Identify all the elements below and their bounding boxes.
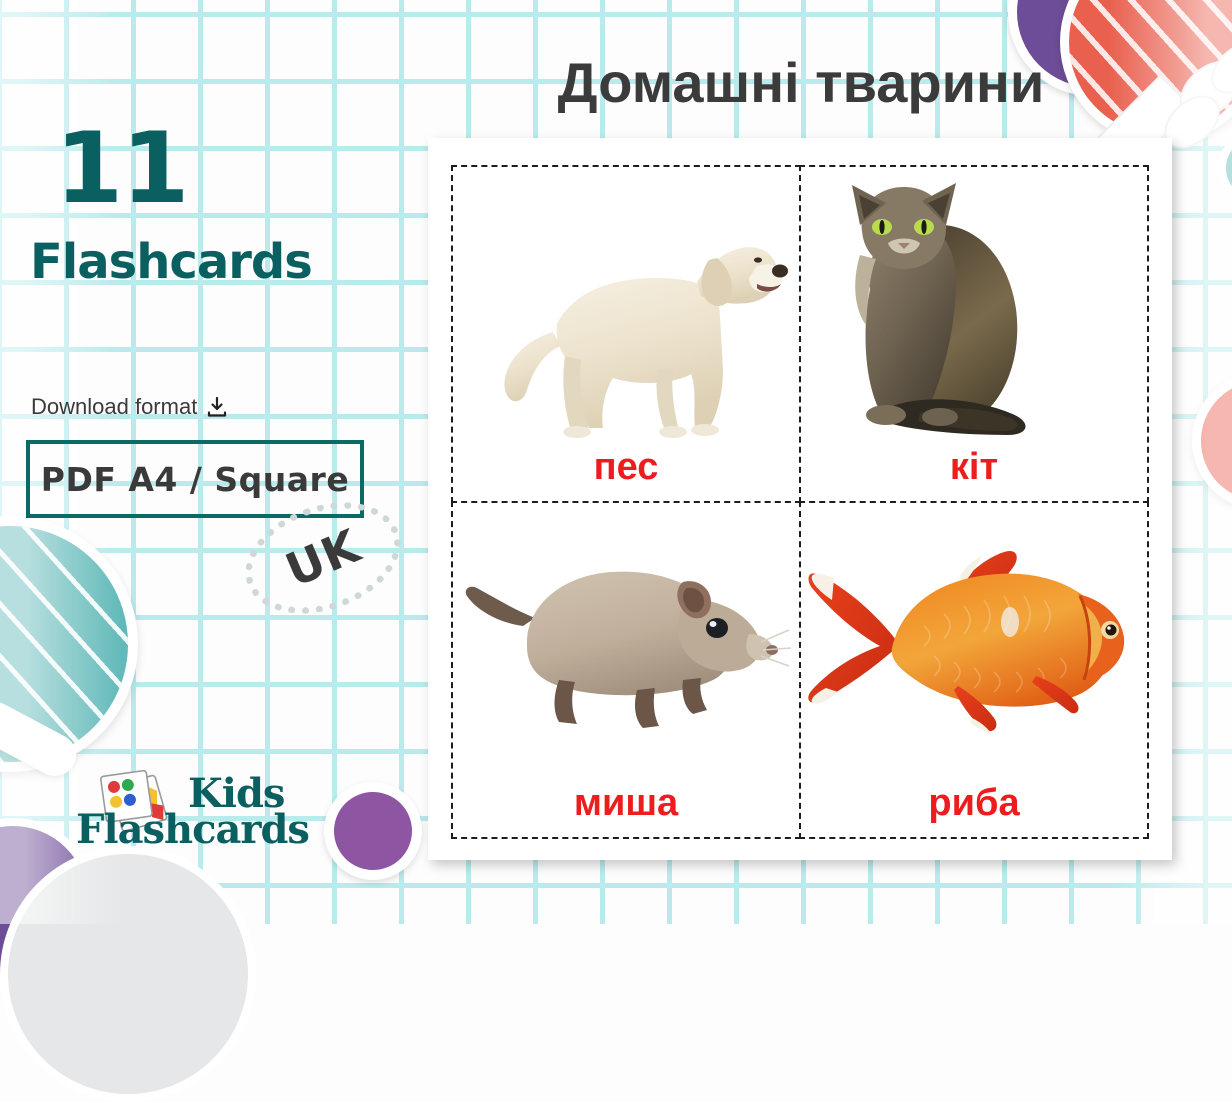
mouse-photo	[453, 507, 799, 783]
flashcard-label: риба	[928, 782, 1019, 825]
flashcard-grid: пес	[452, 166, 1148, 838]
flashcard-count-label: Flashcards	[30, 238, 312, 286]
download-format-label: Download format	[31, 394, 197, 420]
page-title: Домашні тварини	[428, 50, 1174, 115]
language-stamp: UK	[243, 506, 403, 610]
fish-photo	[801, 507, 1147, 783]
flashcard-label: миша	[574, 782, 678, 825]
flashcard-panel: пес	[428, 138, 1172, 860]
flashcard-fish[interactable]: риба	[799, 501, 1149, 839]
download-icon	[206, 396, 228, 418]
download-format-button-label: PDF A4 / Square	[41, 460, 349, 499]
download-format-row: Download format	[31, 394, 228, 420]
brand-logo[interactable]: Kids Flashcards	[78, 768, 378, 858]
flashcard-dog[interactable]: пес	[451, 165, 801, 503]
flashcard-label: пес	[594, 446, 659, 489]
flashcard-count: 11	[55, 120, 187, 218]
dog-photo	[453, 171, 799, 447]
cat-photo	[801, 171, 1147, 447]
flashcard-label: кіт	[950, 446, 998, 489]
flashcard-mouse[interactable]: миша	[451, 501, 801, 839]
flashcard-cat[interactable]: кіт	[799, 165, 1149, 503]
brand-name-line2: Flashcards	[76, 806, 309, 853]
